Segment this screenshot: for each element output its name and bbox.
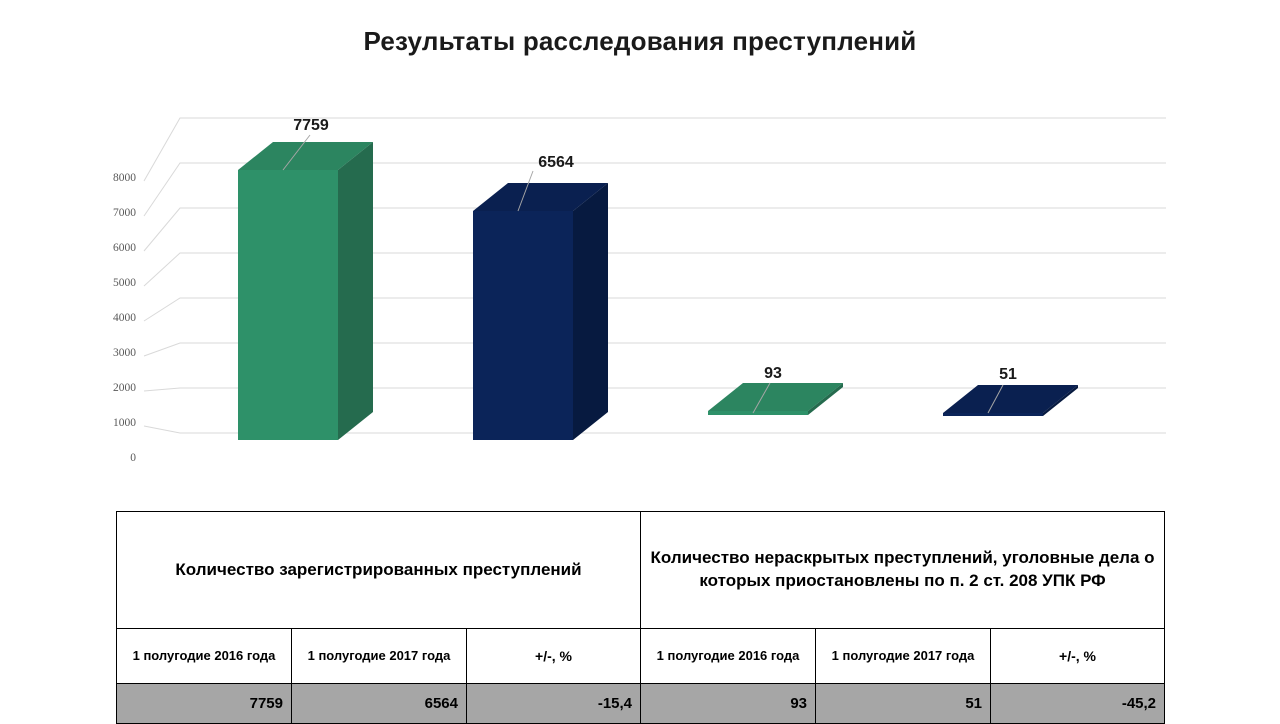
chart-canvas: 8000 7000 6000 5000 4000 3000 2000 1000 … [0,95,1280,480]
bar-unsolved-2017[interactable] [943,385,1078,416]
table-row-group-headers: Количество зарегистрированных преступлен… [117,512,1165,629]
header-unsolved-crimes: Количество нераскрытых преступлений, уго… [641,512,1165,629]
chart-3d-column: 8000 7000 6000 5000 4000 3000 2000 1000 … [0,95,1280,480]
value-registered-2017: 6564 [292,684,467,724]
data-label-bar4: 51 [999,366,1017,383]
bar-registered-2017[interactable] [473,183,608,440]
y-tick-5000: 5000 [113,277,136,289]
y-axis-tick-labels: 8000 7000 6000 5000 4000 3000 2000 1000 … [113,172,136,464]
subheader-unsolved-2017: 1 полугодие 2017 года [816,629,991,684]
value-unsolved-2016: 93 [641,684,816,724]
bar-registered-2016[interactable] [238,142,373,440]
data-label-bar2: 6564 [538,154,574,171]
subheader-registered-pct: +/-, % [467,629,641,684]
data-label-bar1: 7759 [293,117,329,134]
y-tick-6000: 6000 [113,242,136,254]
y-tick-2000: 2000 [113,382,136,394]
y-tick-3000: 3000 [113,347,136,359]
subheader-unsolved-pct: +/-, % [991,629,1165,684]
value-unsolved-pct: -45,2 [991,684,1165,724]
value-registered-2016: 7759 [117,684,292,724]
value-registered-pct: -15,4 [467,684,641,724]
y-tick-1000: 1000 [113,417,136,429]
subheader-registered-2017: 1 полугодие 2017 года [292,629,467,684]
y-tick-0: 0 [130,452,136,464]
subheader-registered-2016: 1 полугодие 2016 года [117,629,292,684]
y-tick-4000: 4000 [113,312,136,324]
value-unsolved-2017: 51 [816,684,991,724]
subheader-unsolved-2016: 1 полугодие 2016 года [641,629,816,684]
header-registered-crimes: Количество зарегистрированных преступлен… [117,512,641,629]
data-label-bar3: 93 [764,365,782,382]
table-row-values: 7759 6564 -15,4 93 51 -45,2 [117,684,1165,724]
y-tick-7000: 7000 [113,207,136,219]
page-title: Результаты расследования преступлений [0,26,1280,57]
y-tick-8000: 8000 [113,172,136,184]
table-row-sub-headers: 1 полугодие 2016 года 1 полугодие 2017 г… [117,629,1165,684]
summary-table: Количество зарегистрированных преступлен… [116,511,1165,724]
